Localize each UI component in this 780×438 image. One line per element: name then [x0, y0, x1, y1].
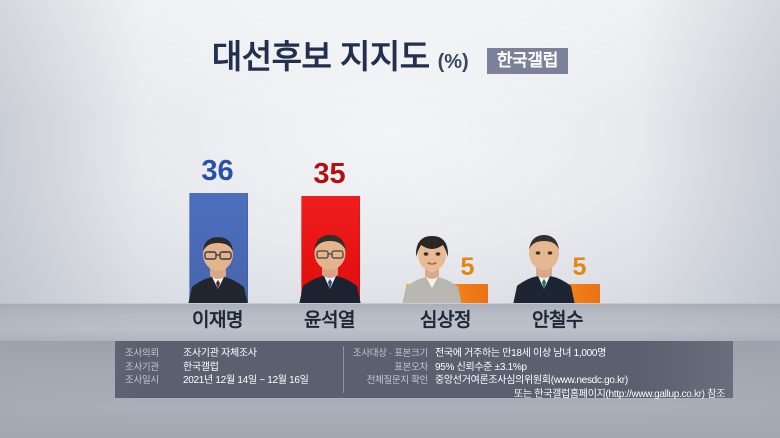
bar-column-3: 5 — [500, 100, 615, 305]
info-label — [344, 388, 428, 402]
candidate-name-row: 이재명 윤석열 심상정 안철수 — [160, 303, 620, 341]
info-value: 전국에 거주하는 만18세 이상 남녀 1,000명 — [435, 347, 725, 361]
portrait-3 — [508, 227, 580, 305]
candidate-name-1: 윤석열 — [272, 311, 387, 332]
survey-info-left: 조사의뢰 조사기관 자체조사 조사기관 한국갤럽 조사일시 2021년 12월 … — [115, 341, 343, 398]
info-row: 전체질문지 확인 중앙선거여론조사심의위원회(www.nesdc.go.kr) — [344, 374, 725, 388]
pollster-badge: 한국갤럽 — [487, 48, 568, 74]
title-unit-percent: (%) — [438, 52, 469, 72]
bar-value-1: 35 — [272, 160, 387, 189]
portrait-1 — [294, 227, 366, 305]
survey-info-right: 조사대상 · 표본크기 전국에 거주하는 만18세 이상 남녀 1,000명 표… — [344, 341, 733, 398]
info-row: 조사기관 한국갤럽 — [125, 361, 343, 375]
info-row: 또는 한국갤럽홈페이지(http://www.gallup.co.kr) 참조 — [344, 388, 725, 402]
bar-column-2: 5 — [388, 100, 503, 305]
page-title: 대선후보 지지도 — [212, 40, 430, 73]
info-row: 표본오차 95% 신뢰수준 ±3.1%p — [344, 361, 725, 375]
info-value: 중앙선거여론조사심의위원회(www.nesdc.go.kr) — [435, 374, 725, 388]
info-label: 전체질문지 확인 — [344, 374, 428, 388]
bar-chart: 36 — [160, 100, 620, 305]
candidate-photo-2 — [396, 227, 468, 305]
candidate-photo-3 — [508, 227, 580, 305]
broadcast-poll-graphic: 대선후보 지지도 (%) 한국갤럽 36 — [0, 0, 780, 438]
info-label: 조사기관 — [125, 361, 177, 375]
candidate-photo-1 — [294, 227, 366, 305]
candidate-name-2: 심상정 — [388, 311, 503, 332]
bar-column-1: 35 — [272, 100, 387, 305]
bar-value-0: 36 — [160, 157, 275, 186]
info-value: 조사기관 자체조사 — [183, 347, 257, 361]
info-value: 한국갤럽 — [183, 361, 219, 375]
info-label: 표본오차 — [344, 361, 428, 375]
title-row: 대선후보 지지도 (%) 한국갤럽 — [0, 40, 780, 76]
portrait-0 — [182, 227, 254, 305]
bar-column-0: 36 — [160, 100, 275, 305]
info-value: 95% 신뢰수준 ±3.1%p — [435, 361, 725, 375]
survey-info-panel: 조사의뢰 조사기관 자체조사 조사기관 한국갤럽 조사일시 2021년 12월 … — [115, 341, 733, 398]
info-label: 조사일시 — [125, 374, 177, 388]
info-row: 조사의뢰 조사기관 자체조사 — [125, 347, 343, 361]
candidate-name-0: 이재명 — [160, 311, 275, 332]
candidate-photo-0 — [182, 227, 254, 305]
candidate-name-band: 이재명 윤석열 심상정 안철수 — [0, 303, 780, 341]
info-row: 조사대상 · 표본크기 전국에 거주하는 만18세 이상 남녀 1,000명 — [344, 347, 725, 361]
portrait-2 — [396, 227, 468, 305]
info-label: 조사의뢰 — [125, 347, 177, 361]
info-label: 조사대상 · 표본크기 — [344, 347, 428, 361]
info-value: 2021년 12월 14일 ~ 12월 16일 — [183, 374, 309, 388]
info-value: 또는 한국갤럽홈페이지(http://www.gallup.co.kr) 참조 — [435, 388, 725, 402]
candidate-name-3: 안철수 — [500, 311, 615, 332]
info-row: 조사일시 2021년 12월 14일 ~ 12월 16일 — [125, 374, 343, 388]
